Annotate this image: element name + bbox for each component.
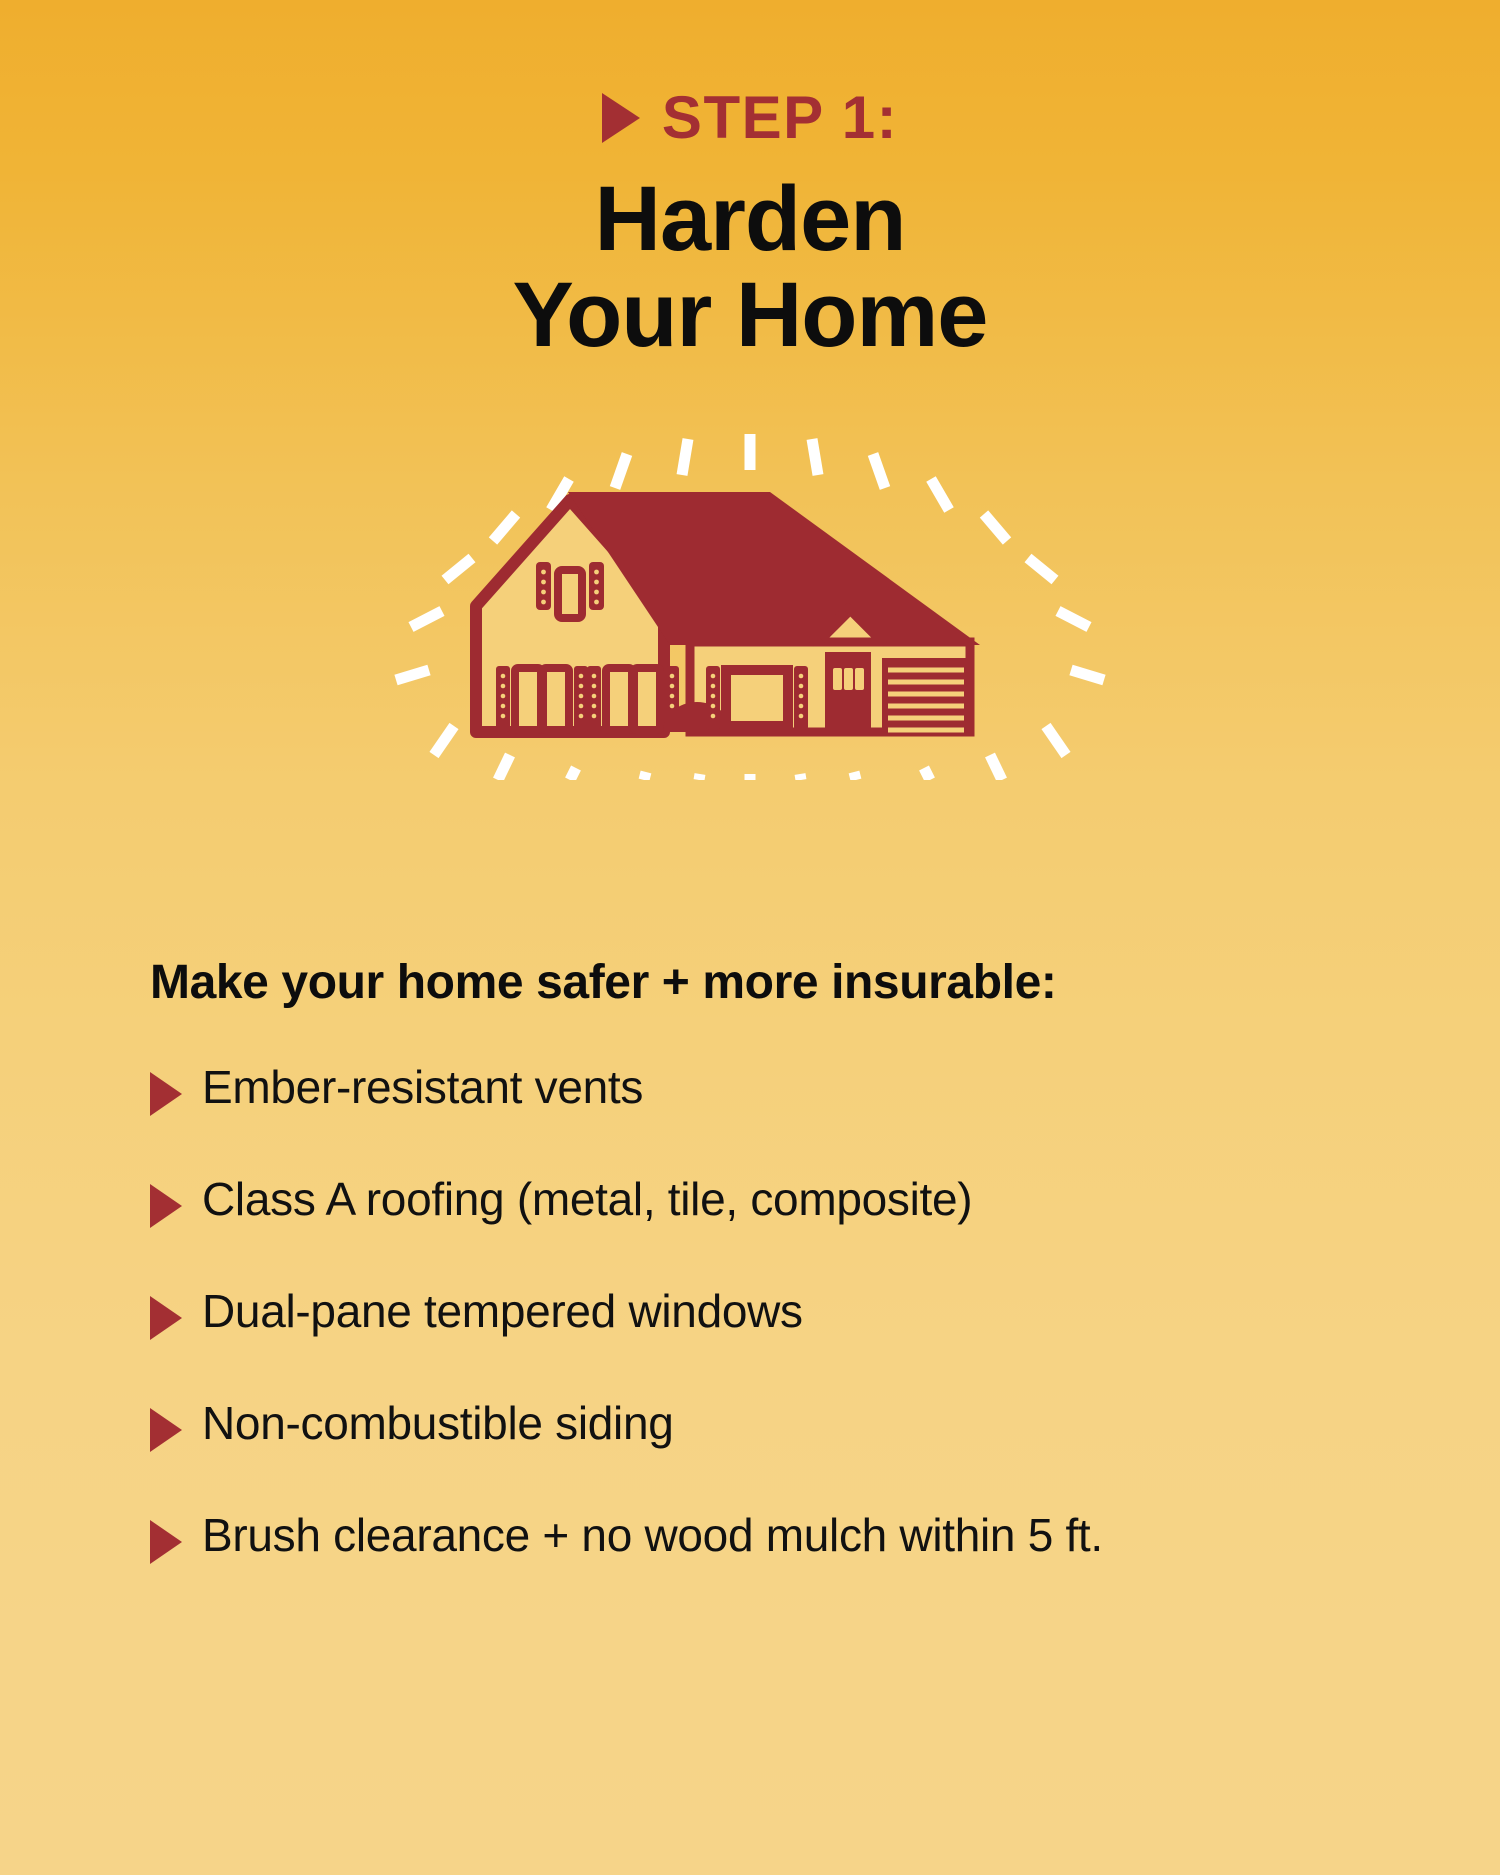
triangle-right-icon [150,1408,182,1452]
poster-body: Make your home safer + more insurable: E… [150,955,1380,1564]
triangle-right-icon [150,1072,182,1116]
list-item-label: Dual-pane tempered windows [202,1286,803,1337]
page-title: Harden Your Home [0,172,1500,363]
list-item-label: Non-combustible siding [202,1398,674,1449]
house-icon [370,430,1130,780]
page-title-line-2: Your Home [0,268,1500,364]
list-item-label: Class A roofing (metal, tile, composite) [202,1174,972,1225]
step-label: STEP 1: [662,88,898,148]
body-subhead: Make your home safer + more insurable: [150,955,1380,1010]
front-door [825,652,871,736]
attic-vent-window [536,562,604,618]
checklist: Ember-resistant vents Class A roofing (m… [150,1062,1380,1564]
garage-door [882,658,970,734]
hardened-house-illustration [0,430,1500,790]
triangle-right-icon [150,1296,182,1340]
infographic-poster: STEP 1: Harden Your Home [0,0,1500,1875]
step-eyebrow: STEP 1: [0,86,1500,150]
list-item-label: Brush clearance + no wood mulch within 5… [202,1510,1103,1561]
list-item: Dual-pane tempered windows [150,1286,1380,1340]
triangle-right-icon [602,93,640,143]
list-item: Ember-resistant vents [150,1062,1380,1116]
triangle-right-icon [150,1184,182,1228]
list-item: Brush clearance + no wood mulch within 5… [150,1510,1380,1564]
wing-picture-window [706,666,808,730]
gable-window-left [496,666,588,732]
list-item: Class A roofing (metal, tile, composite) [150,1174,1380,1228]
page-title-line-1: Harden [0,172,1500,268]
list-item-label: Ember-resistant vents [202,1062,643,1113]
list-item: Non-combustible siding [150,1398,1380,1452]
poster-header: STEP 1: Harden Your Home [0,0,1500,363]
triangle-right-icon [150,1520,182,1564]
